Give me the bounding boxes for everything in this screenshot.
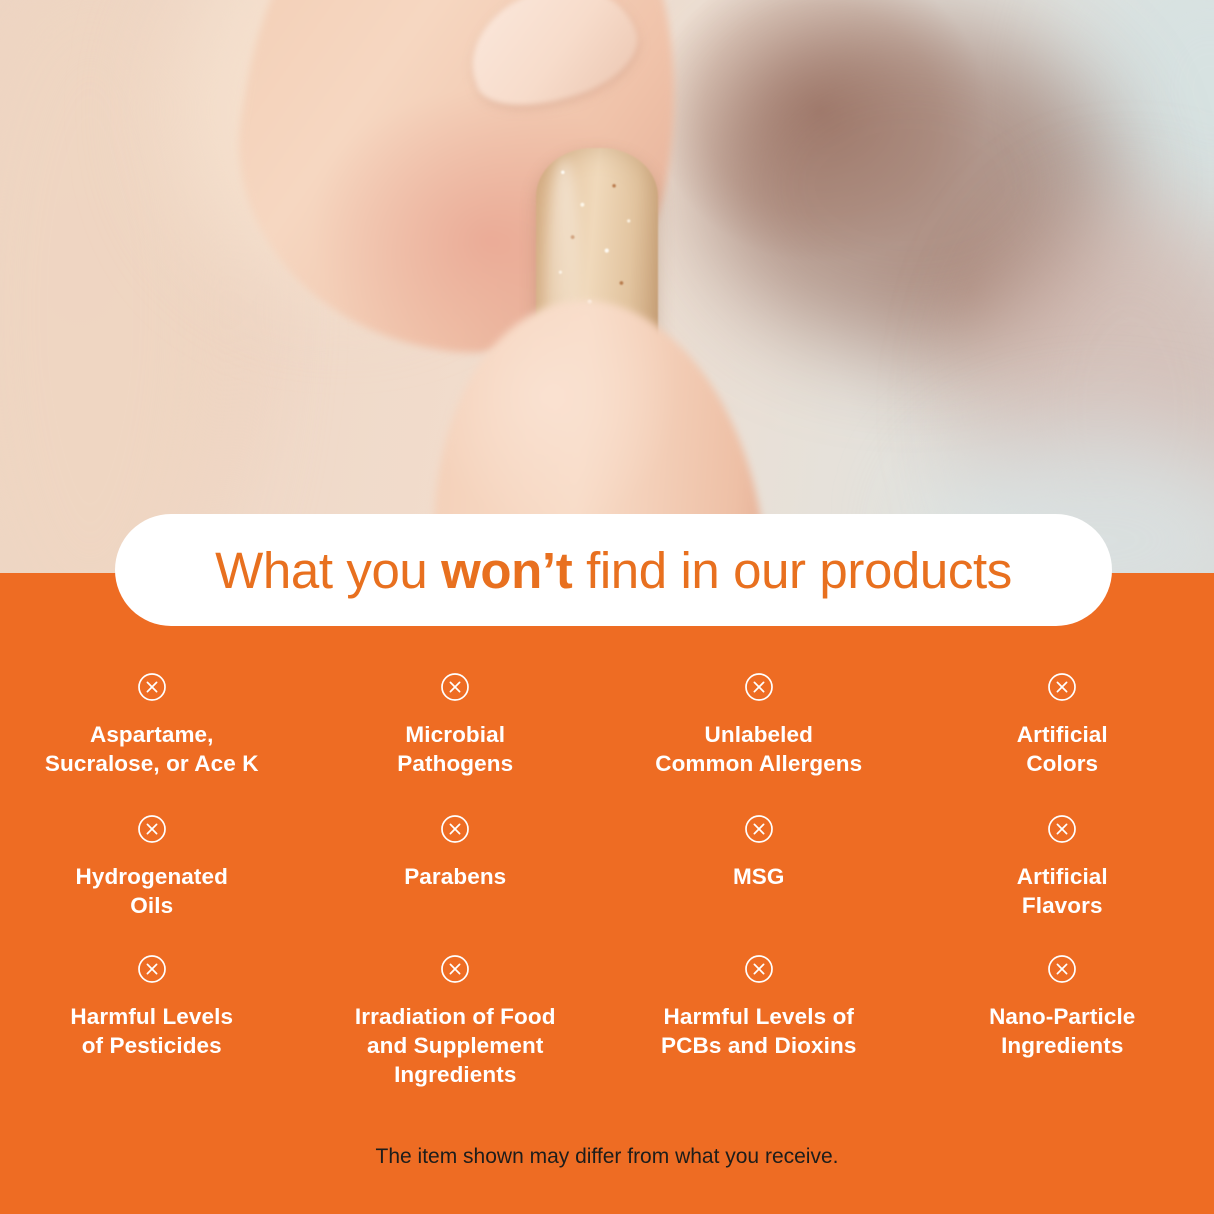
excluded-item-label: Harmful Levels of PCBs and Dioxins <box>613 1002 905 1060</box>
circle-x-icon <box>440 672 470 702</box>
excluded-item: Microbial Pathogens <box>304 660 608 802</box>
excluded-item: Nano-Particle Ingredients <box>911 942 1214 1092</box>
excluded-item-label: Aspartame, Sucralose, or Ace K <box>6 720 298 778</box>
hero-photo <box>0 0 1214 575</box>
circle-x-icon <box>1047 954 1077 984</box>
excluded-item: Irradiation of Food and Supplement Ingre… <box>304 942 608 1092</box>
circle-x-icon <box>1047 814 1077 844</box>
excluded-item-label: Harmful Levels of Pesticides <box>6 1002 298 1060</box>
excluded-item-label: Unlabeled Common Allergens <box>613 720 905 778</box>
circle-x-icon <box>440 954 470 984</box>
excluded-item: Parabens <box>304 802 608 942</box>
excluded-item-label: MSG <box>613 862 905 891</box>
disclaimer-text: The item shown may differ from what you … <box>0 1143 1214 1170</box>
excluded-item: Artificial Colors <box>911 660 1214 802</box>
excluded-item: Hydrogenated Oils <box>0 802 304 942</box>
circle-x-icon <box>137 672 167 702</box>
excluded-item: MSG <box>607 802 911 942</box>
excluded-item-label: Hydrogenated Oils <box>6 862 298 920</box>
excluded-item: Harmful Levels of PCBs and Dioxins <box>607 942 911 1092</box>
circle-x-icon <box>137 954 167 984</box>
page-title: What you won’t find in our products <box>215 545 1012 596</box>
excluded-item-label: Microbial Pathogens <box>310 720 602 778</box>
excluded-item-label: Irradiation of Food and Supplement Ingre… <box>310 1002 602 1089</box>
excluded-item: Harmful Levels of Pesticides <box>0 942 304 1092</box>
circle-x-icon <box>440 814 470 844</box>
excluded-ingredients-grid: Aspartame, Sucralose, or Ace K Microbial… <box>0 660 1214 1092</box>
excluded-item: Unlabeled Common Allergens <box>607 660 911 802</box>
circle-x-icon <box>744 954 774 984</box>
excluded-item: Artificial Flavors <box>911 802 1214 942</box>
headline-pill: What you won’t find in our products <box>115 514 1112 626</box>
excluded-item-label: Artificial Colors <box>917 720 1209 778</box>
excluded-item-label: Parabens <box>310 862 602 891</box>
headline-emphasis: won’t <box>441 542 572 599</box>
excluded-item: Aspartame, Sucralose, or Ace K <box>0 660 304 802</box>
headline-part-one: What you <box>215 542 441 599</box>
excluded-item-label: Artificial Flavors <box>917 862 1209 920</box>
product-claims-graphic: What you won’t find in our products Aspa… <box>0 0 1214 1214</box>
circle-x-icon <box>744 814 774 844</box>
excluded-item-label: Nano-Particle Ingredients <box>917 1002 1209 1060</box>
headline-part-two: find in our products <box>572 542 1012 599</box>
circle-x-icon <box>744 672 774 702</box>
circle-x-icon <box>1047 672 1077 702</box>
circle-x-icon <box>137 814 167 844</box>
